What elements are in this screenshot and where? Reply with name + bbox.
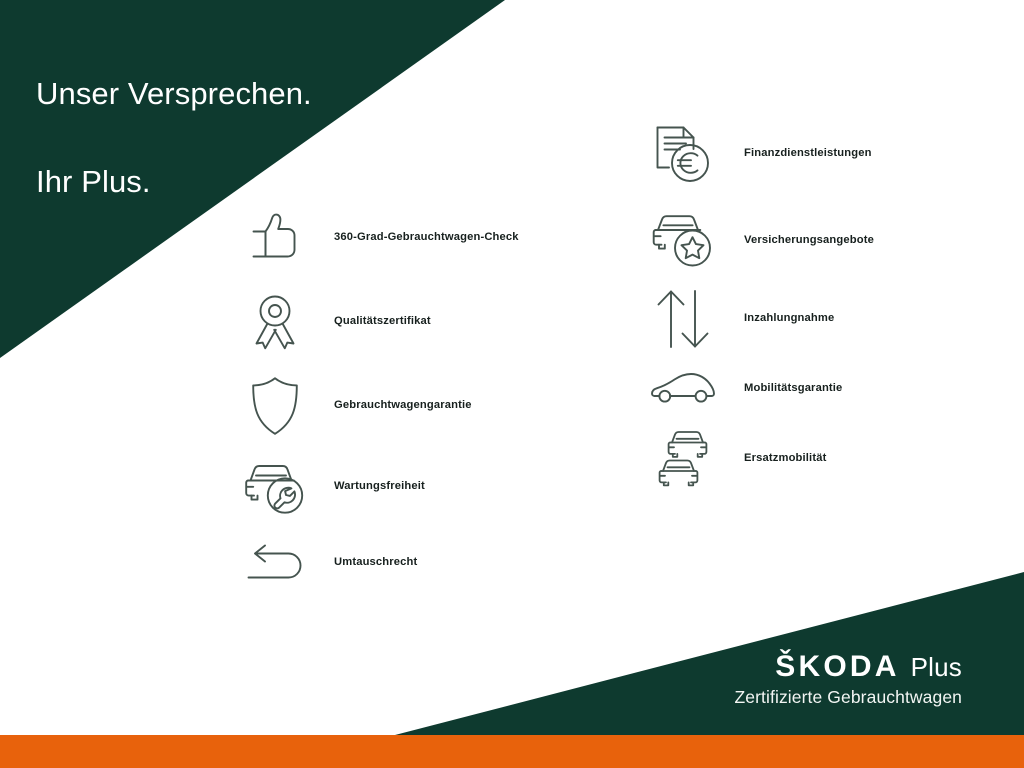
u-turn-arrow-icon <box>238 530 312 596</box>
feature-item-insurance-offers: Versicherungsangebote <box>644 198 1004 284</box>
feature-label: Wartungsfreiheit <box>312 480 425 493</box>
feature-list-left: 360-Grad-Gebrauchtwagen-Check Qualitätsz… <box>238 196 598 600</box>
plus-wordmark: Plus <box>911 654 962 680</box>
feature-label: Umtauschrecht <box>312 556 417 569</box>
feature-item-warranty: Gebrauchtwagengarantie <box>238 364 598 448</box>
feature-item-trade-in: Inzahlungnahme <box>644 284 1004 354</box>
brand-tagline: Zertifizierte Gebrauchtwagen <box>735 687 963 708</box>
feature-item-replacement-mobility: Ersatzmobilität <box>644 424 1004 494</box>
feature-item-mobility-guarantee: Mobilitätsgarantie <box>644 354 1004 424</box>
feature-label: Gebrauchtwagengarantie <box>312 399 472 412</box>
document-euro-icon <box>644 121 722 187</box>
feature-label: Mobilitätsgarantie <box>722 382 842 395</box>
feature-item-quality-certificate: Qualitätszertifikat <box>238 280 598 364</box>
two-cars-icon <box>644 426 722 492</box>
award-rosette-icon <box>238 289 312 355</box>
promo-banner: Unser Versprechen. Ihr Plus. 360-Grad-Ge… <box>0 0 1024 768</box>
feature-list-right: Finanzdienstleistungen Versicherungsange… <box>644 110 1004 494</box>
car-star-icon <box>644 208 722 274</box>
feature-label: 360-Grad-Gebrauchtwagen-Check <box>312 231 519 244</box>
feature-label: Versicherungsangebote <box>722 234 874 247</box>
brand-lockup: ŠKODA Plus Zertifizierte Gebrauchtwagen <box>735 652 963 708</box>
feature-item-exchange-right: Umtauschrecht <box>238 526 598 600</box>
feature-label: Finanzdienstleistungen <box>722 147 872 160</box>
feature-item-360-check: 360-Grad-Gebrauchtwagen-Check <box>238 196 598 280</box>
brand-logo-row: ŠKODA Plus <box>735 652 963 682</box>
feature-label: Qualitätszertifikat <box>312 315 431 328</box>
feature-label: Inzahlungnahme <box>722 312 834 325</box>
headline-line-1: Unser Versprechen. <box>36 72 456 116</box>
feature-item-financial-services: Finanzdienstleistungen <box>644 110 1004 198</box>
feature-item-maintenance-free: Wartungsfreiheit <box>238 448 598 526</box>
up-down-arrows-icon <box>644 286 722 352</box>
thumbs-up-icon <box>238 205 312 271</box>
car-side-icon <box>644 356 722 422</box>
shield-icon <box>238 373 312 439</box>
orange-footer-bar <box>0 735 1024 768</box>
car-wrench-icon <box>238 454 312 520</box>
skoda-wordmark: ŠKODA <box>775 652 899 682</box>
feature-label: Ersatzmobilität <box>722 452 826 465</box>
